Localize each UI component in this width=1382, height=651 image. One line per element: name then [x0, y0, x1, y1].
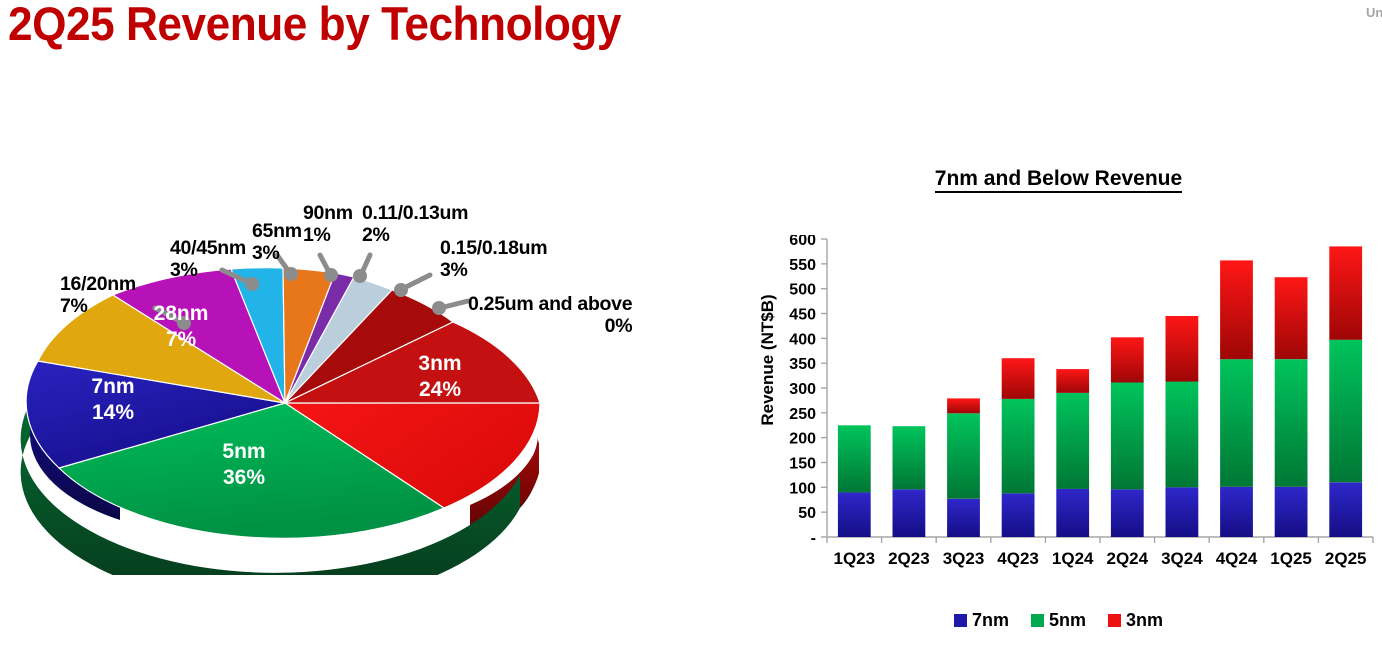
- legend-swatch-3nm: [1108, 614, 1121, 627]
- pie-label-7nm-name: 7nm: [91, 375, 134, 398]
- y-tick-label: 350: [789, 356, 816, 373]
- y-tick-label: 100: [789, 480, 816, 497]
- bar-chart-x-tick-labels: 1Q232Q233Q234Q231Q242Q243Q244Q241Q252Q25: [834, 549, 1367, 568]
- pie-callout-40-45nm-name: 40/45nm: [170, 237, 246, 259]
- y-tick-label: 200: [789, 431, 816, 448]
- pie-label-3nm-name: 3nm: [418, 352, 461, 375]
- bar-segment-1q25-3nm[interactable]: [1275, 277, 1308, 359]
- bar-segment-4q24-3nm[interactable]: [1220, 260, 1253, 359]
- pie-callout-40-45nm: 40/45nm 3%: [170, 237, 246, 281]
- legend-item-5nm[interactable]: 5nm: [1031, 610, 1086, 631]
- bar-segment-4q24-5nm[interactable]: [1220, 359, 1253, 487]
- x-tick-label-1q24: 1Q24: [1052, 549, 1094, 568]
- x-tick-label-4q24: 4Q24: [1216, 549, 1258, 568]
- pie-label-7nm-pct: 14%: [92, 401, 134, 424]
- bar-segment-1q25-5nm[interactable]: [1275, 359, 1308, 487]
- bar-segment-1q24-3nm[interactable]: [1056, 369, 1089, 393]
- y-tick-label: 250: [789, 406, 816, 423]
- x-tick-label-3q23: 3Q23: [943, 549, 985, 568]
- bar-segment-3q24-3nm[interactable]: [1166, 316, 1199, 382]
- pie-callout-025um-and-above: 0.25um and above 0%: [468, 293, 632, 337]
- y-tick-label: 600: [789, 235, 816, 249]
- bar-segment-2q25-7nm[interactable]: [1329, 482, 1362, 537]
- pie-callout-16-20nm-pct: 7%: [60, 295, 136, 317]
- legend-item-3nm[interactable]: 3nm: [1108, 610, 1163, 631]
- bar-chart-y-tick-labels: -50100150200250300350400450500550600: [789, 235, 816, 547]
- bar-segment-3q24-5nm[interactable]: [1166, 382, 1199, 488]
- pie-callout-015-018um: 0.15/0.18um 3%: [440, 237, 547, 281]
- y-tick-label: 450: [789, 307, 816, 324]
- bar-segment-3q24-7nm[interactable]: [1166, 487, 1199, 537]
- pie-callout-40-45nm-pct: 3%: [170, 259, 246, 281]
- bar-chart-title-text: 7nm and Below Revenue: [935, 167, 1182, 193]
- pie-callout-015-018um-name: 0.15/0.18um: [440, 237, 547, 259]
- pie-chart-panel: 3nm 24% 5nm 36% 7nm 14% 28nm 7% 16/20nm …: [0, 175, 700, 575]
- bar-segment-3q23-3nm[interactable]: [947, 398, 980, 413]
- bar-segment-2q24-3nm[interactable]: [1111, 337, 1144, 382]
- bar-chart-title: 7nm and Below Revenue: [735, 167, 1382, 191]
- pie-callout-025um-and-above-name: 0.25um and above: [468, 293, 632, 315]
- y-tick-label: 50: [798, 505, 816, 522]
- bar-segment-1q25-7nm[interactable]: [1275, 487, 1308, 537]
- x-tick-label-3q24: 3Q24: [1161, 549, 1203, 568]
- pie-label-28nm-name: 28nm: [154, 302, 209, 325]
- pie-label-3nm-pct: 24%: [419, 378, 461, 401]
- y-tick-label: 400: [789, 331, 816, 348]
- x-tick-label-2q23: 2Q23: [888, 549, 930, 568]
- y-tick-label: 150: [789, 456, 816, 473]
- bar-segment-3q23-7nm[interactable]: [947, 499, 980, 537]
- pie-label-5nm-pct: 36%: [223, 466, 265, 489]
- pie-callout-16-20nm-name: 16/20nm: [60, 273, 136, 295]
- bar-segment-1q24-7nm[interactable]: [1056, 489, 1089, 537]
- bar-segment-1q23-7nm[interactable]: [838, 492, 871, 537]
- legend-swatch-7nm: [954, 614, 967, 627]
- x-tick-label-1q25: 1Q25: [1270, 549, 1312, 568]
- bar-segment-2q24-5nm[interactable]: [1111, 383, 1144, 490]
- y-tick-label: 500: [789, 282, 816, 299]
- bar-segment-4q24-7nm[interactable]: [1220, 487, 1253, 537]
- bar-segment-2q24-7nm[interactable]: [1111, 489, 1144, 537]
- legend-label-5nm: 5nm: [1049, 610, 1086, 631]
- bar-segment-3q23-5nm[interactable]: [947, 413, 980, 498]
- bar-chart-bars: [838, 246, 1362, 537]
- legend-label-3nm: 3nm: [1126, 610, 1163, 631]
- pie-callout-65nm: 65nm 3%: [252, 220, 302, 264]
- pie-callout-90nm: 90nm 1%: [303, 202, 353, 246]
- page-title: 2Q25 Revenue by Technology: [8, 0, 621, 51]
- bar-segment-4q23-7nm[interactable]: [1002, 493, 1035, 537]
- bar-segment-2q23-7nm[interactable]: [893, 489, 926, 537]
- pie-label-5nm-name: 5nm: [222, 440, 265, 463]
- bar-segment-4q23-5nm[interactable]: [1002, 399, 1035, 493]
- legend-item-7nm[interactable]: 7nm: [954, 610, 1009, 631]
- bar-chart-legend: 7nm5nm3nm: [735, 610, 1382, 631]
- unit-note: Unit: [1366, 5, 1382, 20]
- y-tick-label: -: [811, 530, 816, 547]
- bar-chart-panel: 7nm and Below Revenue Revenue (NT$B) -50…: [735, 155, 1382, 651]
- x-tick-label-1q23: 1Q23: [834, 549, 876, 568]
- bar-segment-1q23-5nm[interactable]: [838, 425, 871, 492]
- pie-callout-65nm-name: 65nm: [252, 220, 302, 242]
- x-tick-label-2q25: 2Q25: [1325, 549, 1367, 568]
- y-tick-label: 550: [789, 257, 816, 274]
- legend-swatch-5nm: [1031, 614, 1044, 627]
- pie-callout-65nm-pct: 3%: [252, 242, 302, 264]
- seven-nm-and-below-revenue-bar-chart: -50100150200250300350400450500550600 1Q2…: [775, 235, 1375, 605]
- bar-chart-x-axis-ticks: [827, 537, 1373, 543]
- bar-segment-1q24-5nm[interactable]: [1056, 393, 1089, 489]
- bar-segment-4q23-3nm[interactable]: [1002, 358, 1035, 399]
- pie-callout-015-018um-pct: 3%: [440, 259, 547, 281]
- y-tick-label: 300: [789, 381, 816, 398]
- pie-callout-025um-and-above-pct: 0%: [468, 315, 632, 337]
- pie-callout-90nm-pct: 1%: [303, 224, 353, 246]
- pie-callout-90nm-name: 90nm: [303, 202, 353, 224]
- pie-label-28nm-pct: 7%: [166, 328, 197, 351]
- x-tick-label-2q24: 2Q24: [1107, 549, 1149, 568]
- legend-label-7nm: 7nm: [972, 610, 1009, 631]
- pie-callout-011-013um-name: 0.11/0.13um: [362, 202, 468, 224]
- x-tick-label-4q23: 4Q23: [997, 549, 1039, 568]
- bar-segment-2q25-5nm[interactable]: [1329, 340, 1362, 483]
- bar-segment-2q23-5nm[interactable]: [893, 426, 926, 489]
- pie-callout-16-20nm: 16/20nm 7%: [60, 273, 136, 317]
- bar-segment-2q25-3nm[interactable]: [1329, 246, 1362, 339]
